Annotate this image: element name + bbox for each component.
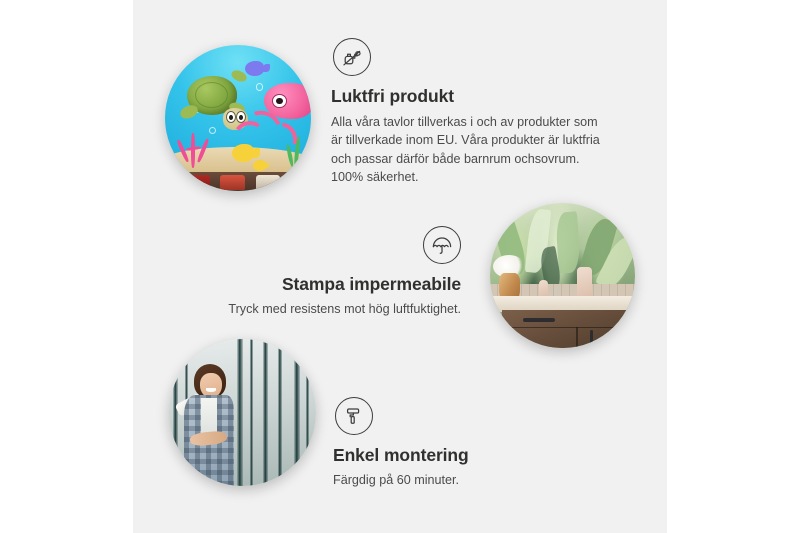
shelf-item [220, 175, 245, 190]
feature-title: Enkel montering [333, 445, 623, 466]
feature-odour-free: Luktfri produkt Alla våra tavlor tillver… [331, 38, 621, 186]
bathroom-scene [490, 203, 635, 348]
screenshot-root: Luktfri produkt Alla våra tavlor tillver… [0, 0, 800, 533]
cabinet-seam [576, 327, 578, 348]
feature-waterproof-print: Stampa impermeabile Tryck med resistens … [171, 226, 461, 318]
feature-title: Luktfri produkt [331, 86, 621, 107]
door-handle [590, 330, 594, 344]
umbrella-icon [423, 226, 461, 264]
cabinet-seam [502, 327, 635, 329]
no-perfume-icon [333, 38, 371, 76]
paint-roller-icon [335, 397, 373, 435]
feature-description: Färgdig på 60 minuter. [333, 471, 623, 489]
pink-coral [174, 128, 218, 167]
turtle-eye [226, 111, 236, 123]
bubble-icon [256, 83, 264, 91]
drawer-handle [523, 318, 555, 322]
woman-smile [206, 388, 216, 392]
shelf-item [256, 175, 281, 190]
shelf-item [185, 175, 210, 190]
octopus-eye [272, 94, 287, 108]
photo-bottom-strip [165, 172, 311, 191]
vanity-cabinet [502, 310, 635, 348]
yellow-fish [232, 144, 254, 162]
yellow-fish [253, 160, 266, 170]
tree-trunk [294, 339, 300, 486]
woman-with-paint-roller-photo [169, 339, 316, 486]
content-panel: Luktfri produkt Alla våra tavlor tillver… [133, 0, 667, 533]
feature-description: Alla våra tavlor tillverkas i och av pro… [331, 113, 607, 186]
tree-trunk [278, 339, 282, 486]
feature-easy-mounting: Enkel montering Färgdig på 60 minuter. [333, 397, 623, 489]
tree-trunk [250, 339, 254, 486]
underwater-kids-scene-photo [165, 45, 311, 191]
tree-trunk [237, 339, 243, 486]
feature-description: Tryck med resistens mot hög luftfuktighe… [171, 300, 461, 318]
turtle-flipper [178, 103, 199, 120]
tree-trunk [263, 339, 268, 486]
tree-trunk [306, 339, 310, 486]
blue-fish [245, 61, 264, 76]
sea-background [165, 45, 311, 191]
feature-title: Stampa impermeabile [171, 274, 461, 295]
bathroom-botanical-wallpaper-photo [490, 203, 635, 348]
woman-roller-scene [169, 339, 316, 486]
